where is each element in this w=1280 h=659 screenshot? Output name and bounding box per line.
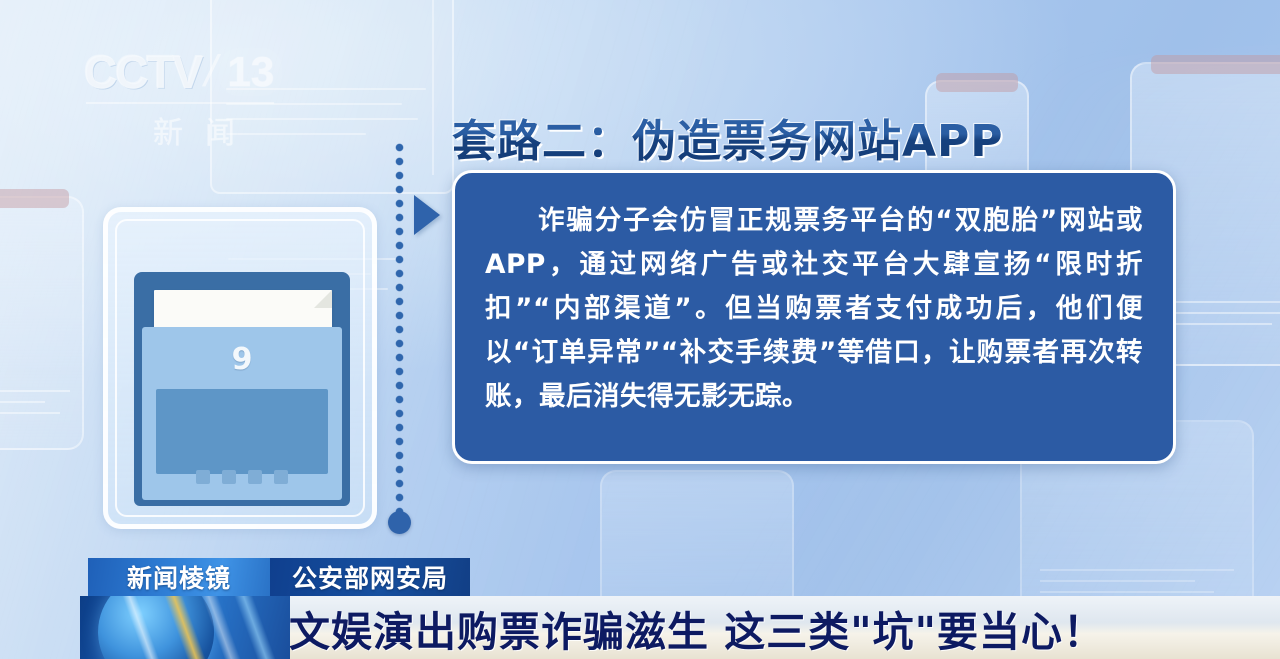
tag-label: 新闻棱镜 (127, 559, 231, 595)
channel-number: 13 (219, 48, 282, 96)
tag-news-prism: 新闻棱镜 (88, 558, 270, 596)
screen-panel-icon (156, 389, 328, 474)
document-folder-illustration: 9 (103, 207, 377, 529)
background-ghost-card-rows (0, 390, 70, 423)
play-triangle-arrow-icon (414, 195, 440, 235)
content-body-text: 诈骗分子会仿冒正规票务平台的“双胞胎”网站或APP，通过网络广告或社交平台大肆宣… (455, 173, 1173, 419)
keyhole-mark-icon: 9 (232, 345, 253, 375)
globe-logo-graphic (80, 596, 290, 659)
channel-name: CCTV (84, 45, 201, 99)
background-ghost-card-a (0, 196, 84, 450)
broadcast-frame: CCTV / 13 新闻 9 套路二：伪造票务网站APP 诈骗分子会仿冒正规票务… (0, 0, 1280, 659)
channel-logo-rule (86, 102, 274, 104)
headline-text: 文娱演出购票诈骗滋生 这三类"坑"要当心！ (275, 598, 1105, 658)
headline-bar: 文娱演出购票诈骗滋生 这三类"坑"要当心！ (275, 596, 1280, 659)
background-ghost-divider (432, 0, 434, 175)
folder-dots-icon (196, 470, 288, 484)
section-title: 套路二：伪造票务网站APP (452, 105, 1004, 169)
cctv13-channel-logo: CCTV / 13 新闻 (84, 44, 304, 148)
background-ghost-card-bar (1151, 55, 1280, 74)
folder-front-icon: 9 (142, 327, 342, 500)
connector-end-dot-icon (388, 511, 411, 534)
content-panel: 诈骗分子会仿冒正规票务平台的“双胞胎”网站或APP，通过网络广告或社交平台大肆宣… (452, 170, 1176, 464)
dotted-connector-line (394, 142, 405, 522)
tag-cyber-security-bureau: 公安部网安局 (270, 558, 470, 596)
background-ghost-card-bar (0, 189, 69, 208)
channel-subtitle: 新闻 (84, 108, 304, 152)
channel-logo-row: CCTV / 13 (84, 44, 304, 100)
background-ghost-card-bar (936, 73, 1018, 92)
lower-third-tags: 新闻棱镜 公安部网安局 (88, 558, 470, 596)
tag-label: 公安部网安局 (292, 559, 448, 595)
